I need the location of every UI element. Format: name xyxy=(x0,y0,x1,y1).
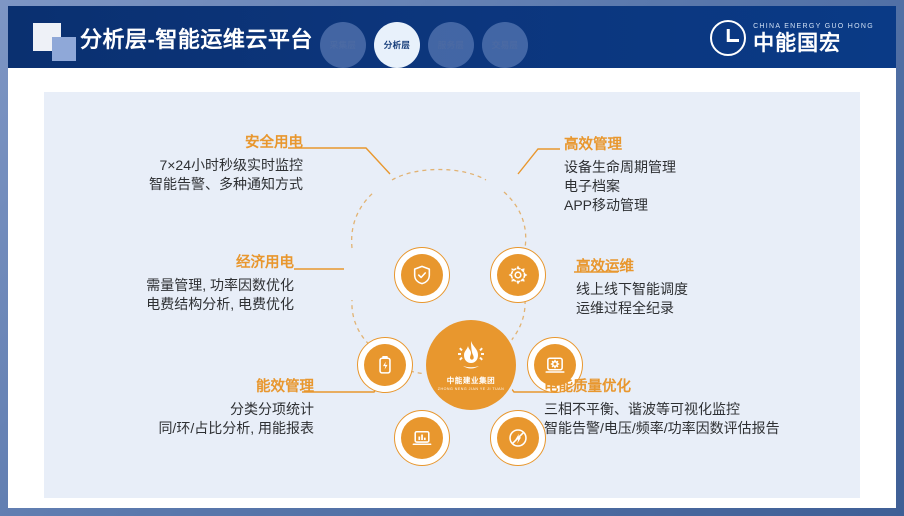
header-bar: 分析层-智能运维云平台 采集层 服务层 交易层 分析层 CHINA ENERGY… xyxy=(8,6,896,68)
feature-line: 需量管理, 功率因数优化 xyxy=(44,276,294,295)
feature-title: 经济用电 xyxy=(44,254,294,273)
node-power-quality[interactable] xyxy=(490,410,546,466)
feature-block-energy-efficiency: 能效管理 分类分项统计 同/环/占比分析, 用能报表 xyxy=(54,378,314,438)
gear-icon xyxy=(497,254,539,296)
feature-line: 7×24小时秒级实时监控 xyxy=(68,156,303,175)
feature-line: 三相不平衡、谐波等可视化监控 xyxy=(544,400,844,419)
feature-block-power-quality: 电能质量优化 三相不平衡、谐波等可视化监控 智能告警/电压/频率/功率因数评估报… xyxy=(544,378,844,438)
layer-badge-service[interactable]: 服务层 xyxy=(428,22,474,68)
node-economic-power[interactable] xyxy=(357,337,413,393)
hub-name-cn: 中能建业集团 xyxy=(447,375,496,386)
layer-badge-analysis[interactable]: 分析层 xyxy=(374,22,420,68)
battery-bolt-icon xyxy=(364,344,406,386)
power-bolt-icon xyxy=(497,417,539,459)
slide-root: 分析层-智能运维云平台 采集层 服务层 交易层 分析层 CHINA ENERGY… xyxy=(0,0,904,516)
company-logo: CHINA ENERGY GUO HONG 中能国宏 xyxy=(710,20,874,56)
node-safe-power[interactable] xyxy=(394,247,450,303)
flame-gear-icon xyxy=(452,339,490,373)
feature-line: 智能告警、多种通知方式 xyxy=(68,175,303,194)
laptop-chart-icon xyxy=(401,417,443,459)
feature-line: APP移动管理 xyxy=(564,196,824,215)
feature-line: 线上线下智能调度 xyxy=(576,280,826,299)
feature-line: 电费结构分析, 电费优化 xyxy=(44,295,294,314)
feature-line: 智能告警/电压/频率/功率因数评估报告 xyxy=(544,419,844,438)
feature-line: 设备生命周期管理 xyxy=(564,158,824,177)
feature-line: 分类分项统计 xyxy=(54,400,314,419)
feature-title: 能效管理 xyxy=(54,378,314,397)
feature-line: 同/环/占比分析, 用能报表 xyxy=(54,419,314,438)
shield-check-icon xyxy=(401,254,443,296)
decor-square-blue xyxy=(52,37,76,61)
feature-title: 高效运维 xyxy=(576,258,826,277)
node-efficient-management[interactable] xyxy=(490,247,546,303)
feature-title: 安全用电 xyxy=(68,134,303,153)
layer-badge-trade[interactable]: 交易层 xyxy=(482,22,528,68)
feature-block-efficient-ops: 高效运维 线上线下智能调度 运维过程全纪录 xyxy=(576,258,826,318)
slide-content: 分析层-智能运维云平台 采集层 服务层 交易层 分析层 CHINA ENERGY… xyxy=(8,6,896,508)
logo-chinese-name: 中能国宏 xyxy=(753,33,874,54)
node-energy-efficiency[interactable] xyxy=(394,410,450,466)
hub-name-pinyin: ZHONG NENG JIAN YE JI TUAN xyxy=(438,387,504,391)
page-title: 分析层-智能运维云平台 xyxy=(80,22,313,54)
feature-title: 电能质量优化 xyxy=(544,378,844,397)
feature-block-efficient-management: 高效管理 设备生命周期管理 电子档案 APP移动管理 xyxy=(564,136,824,215)
feature-title: 高效管理 xyxy=(564,136,824,155)
feature-line: 运维过程全纪录 xyxy=(576,299,826,318)
logo-english-name: CHINA ENERGY GUO HONG xyxy=(753,23,874,30)
feature-block-economic-power: 经济用电 需量管理, 功率因数优化 电费结构分析, 电费优化 xyxy=(44,254,294,314)
layer-badge-collect[interactable]: 采集层 xyxy=(320,22,366,68)
central-hub: 中能建业集团 ZHONG NENG JIAN YE JI TUAN xyxy=(426,320,516,410)
feature-block-safe-power: 安全用电 7×24小时秒级实时监控 智能告警、多种通知方式 xyxy=(68,134,303,194)
feature-line: 电子档案 xyxy=(564,177,824,196)
g-circle-logo-icon xyxy=(710,20,746,56)
